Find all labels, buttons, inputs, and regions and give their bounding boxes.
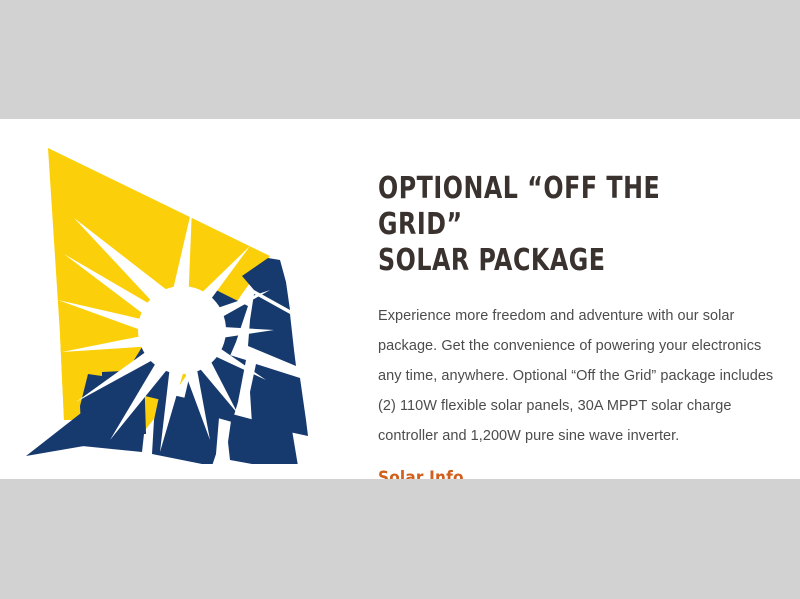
solar-package-card: Optional “Off the Grid” Solar Package Ex… [0,119,800,479]
text-column: Optional “Off the Grid” Solar Package Ex… [378,119,800,488]
promo-description: Experience more freedom and adventure wi… [378,301,776,451]
page-root: Optional “Off the Grid” Solar Package Ex… [0,0,800,599]
page-title: Optional “Off the Grid” Solar Package [378,171,728,279]
solar-panel-sunburst-icon [24,134,344,464]
top-gray-band [0,0,800,119]
bottom-gray-band [0,479,800,599]
logo-column [0,119,378,479]
